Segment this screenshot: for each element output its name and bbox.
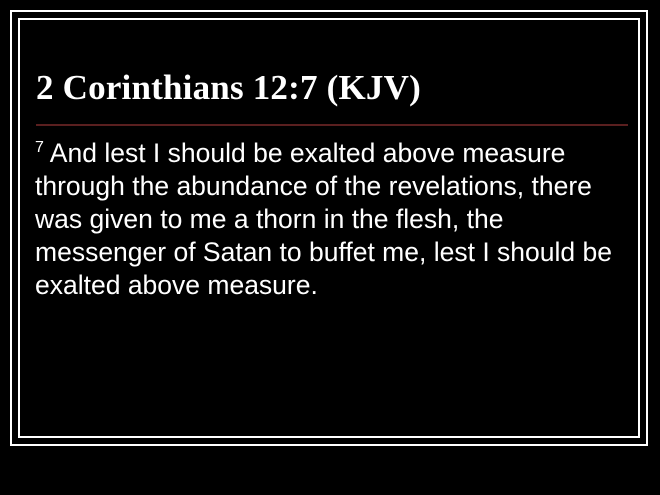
verse-text: And lest I should be exalted above measu… <box>35 138 612 300</box>
presentation-slide: 2 Corinthians 12:7 (KJV) 7 And lest I sh… <box>0 0 660 495</box>
title-divider-rule <box>36 124 628 126</box>
slide-title: 2 Corinthians 12:7 (KJV) <box>36 68 622 108</box>
slide-content: 2 Corinthians 12:7 (KJV) 7 And lest I sh… <box>20 20 638 436</box>
verse-number: 7 <box>35 139 44 156</box>
scripture-body: 7 And lest I should be exalted above mea… <box>35 137 631 302</box>
